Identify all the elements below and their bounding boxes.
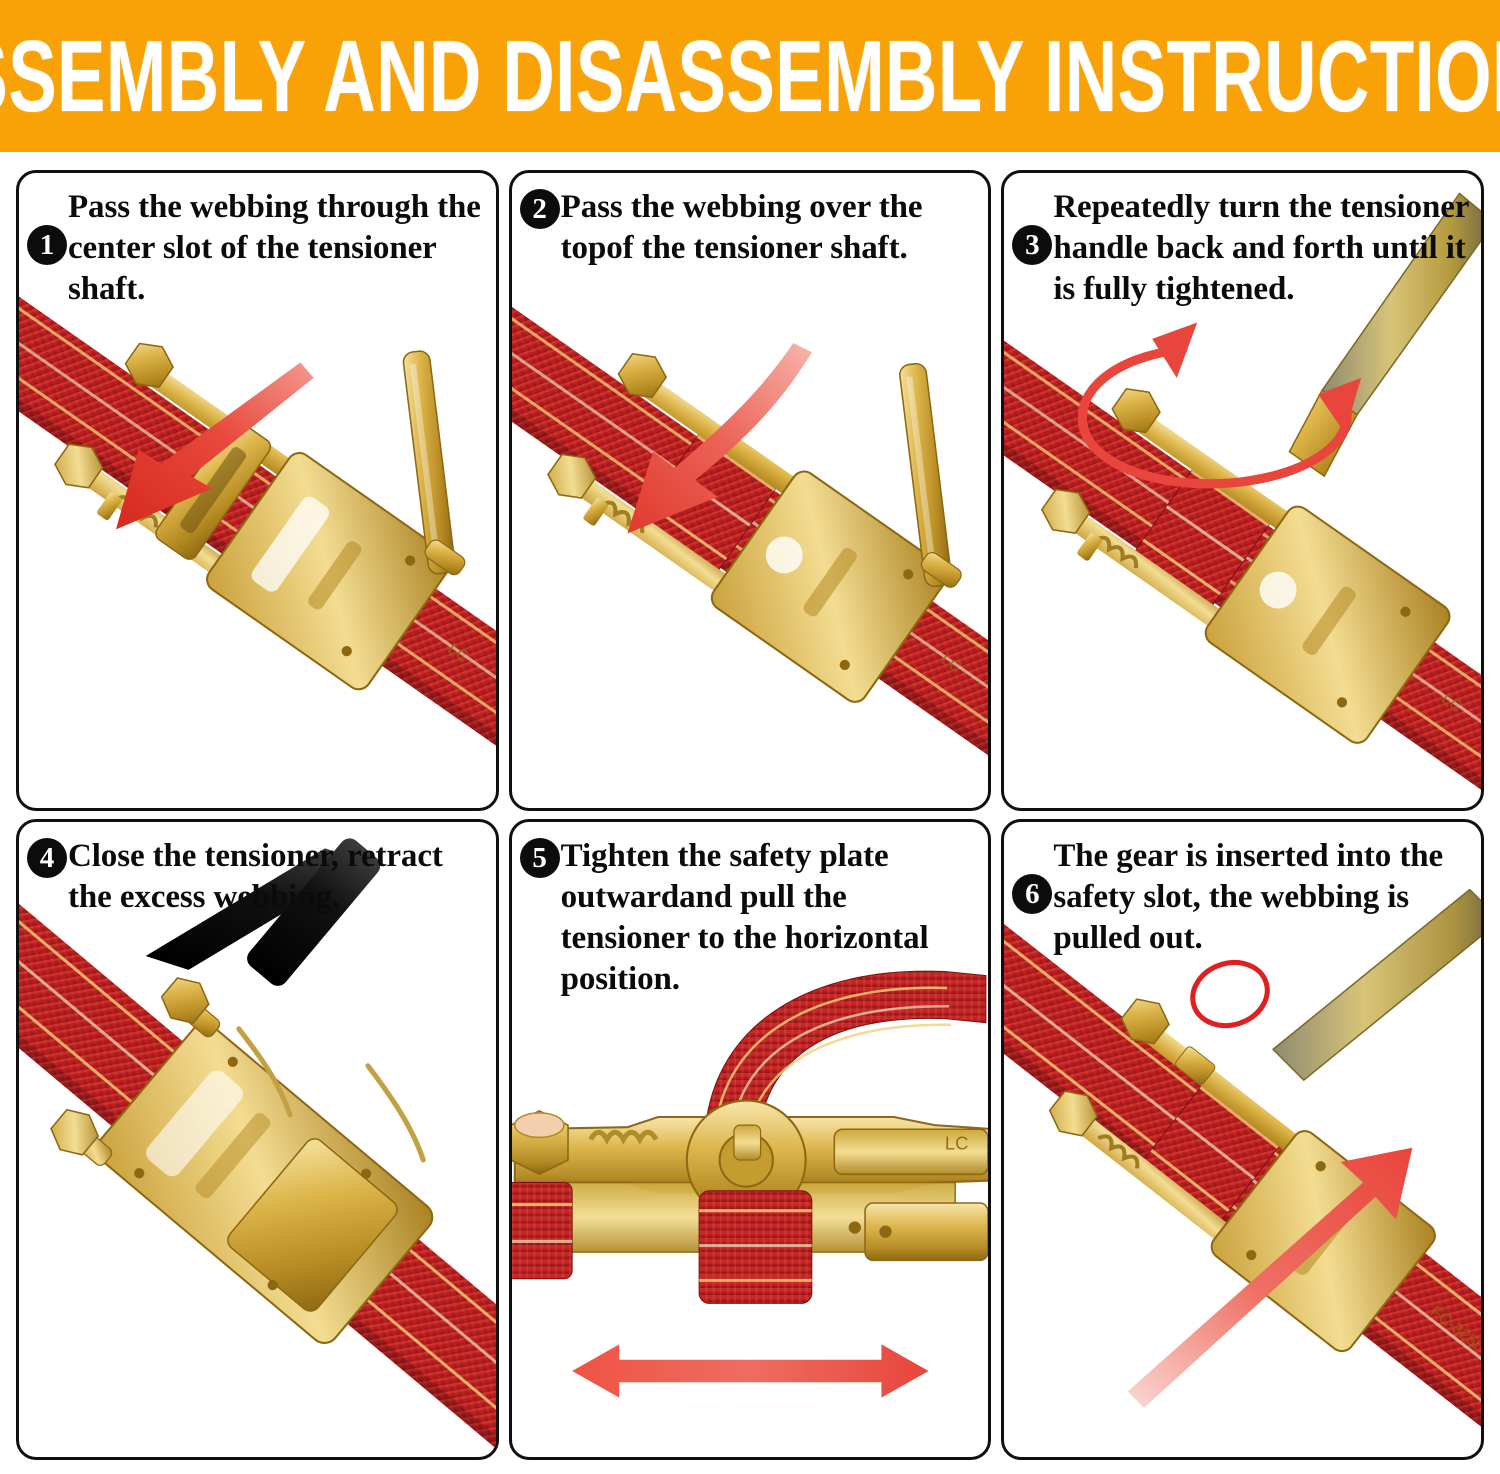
panel-caption: 5 Tighten the safety plate outwardand pu… <box>512 822 989 1000</box>
step-badge: 5 <box>520 838 560 878</box>
tensioner-horizontal: LC <box>512 1101 989 1304</box>
instruction-sheet: ASSEMBLY AND DISASSEMBLY INSTRUCTIONS <box>0 0 1500 1474</box>
page-title: ASSEMBLY AND DISASSEMBLY INSTRUCTIONS <box>0 25 1500 126</box>
instruction-panel-1: LC 1 Pass the webbing through the center… <box>16 170 499 811</box>
step-text: Close the tensioner, retract the excess … <box>68 836 484 918</box>
step-badge: 6 <box>1012 874 1052 914</box>
arrow <box>1128 1148 1413 1408</box>
instruction-panel-2: LC 2 Pass the webbing over the topof the… <box>509 170 992 811</box>
panel-caption: 2 Pass the webbing over the topof the te… <box>512 173 989 269</box>
instruction-panel-3: LC 3 Repeatedly turn the tensioner handl… <box>1001 170 1484 811</box>
instruction-panel-5: LC 5 Tighten the safety plate outwardand… <box>509 819 992 1460</box>
arrow <box>116 362 314 529</box>
svg-text:LC: LC <box>937 650 965 677</box>
svg-text:LC: LC <box>1438 690 1466 717</box>
header-banner: ASSEMBLY AND DISASSEMBLY INSTRUCTIONS <box>0 0 1500 152</box>
step-text: Repeatedly turn the tensioner handle bac… <box>1053 187 1469 310</box>
step-text: Pass the webbing through the center slot… <box>68 187 484 310</box>
panel-caption: 1 Pass the webbing through the center sl… <box>19 173 496 310</box>
step-text: Tighten the safety plate outwardand pull… <box>561 836 977 1000</box>
step-badge: 2 <box>520 189 560 229</box>
arrow <box>627 343 811 534</box>
highlight-circle <box>1185 953 1276 1035</box>
panel-caption: 4 Close the tensioner, retract the exces… <box>19 822 496 918</box>
step-badge: 3 <box>1012 225 1052 265</box>
step-badge: 1 <box>27 225 67 265</box>
step-text: The gear is inserted into the safety slo… <box>1053 836 1469 959</box>
svg-text:FC-3250: FC-3250 <box>1427 1302 1481 1355</box>
panel-caption: 3 Repeatedly turn the tensioner handle b… <box>1004 173 1481 310</box>
step-badge: 4 <box>27 838 67 878</box>
arrow <box>1083 349 1348 484</box>
arrow-heads <box>1153 323 1362 434</box>
panel-caption: 6 The gear is inserted into the safety s… <box>1004 822 1481 959</box>
instruction-panel-4: 4 Close the tensioner, retract the exces… <box>16 819 499 1460</box>
instruction-panel-6: FC-3250 6 The gear is inserted into the … <box>1001 819 1484 1460</box>
svg-text:LC: LC <box>945 1133 969 1154</box>
instruction-grid: LC 1 Pass the webbing through the center… <box>0 152 1500 1474</box>
arrow <box>572 1344 928 1397</box>
svg-text:LC: LC <box>444 640 472 667</box>
step-text: Pass the webbing over the topof the tens… <box>561 187 977 269</box>
